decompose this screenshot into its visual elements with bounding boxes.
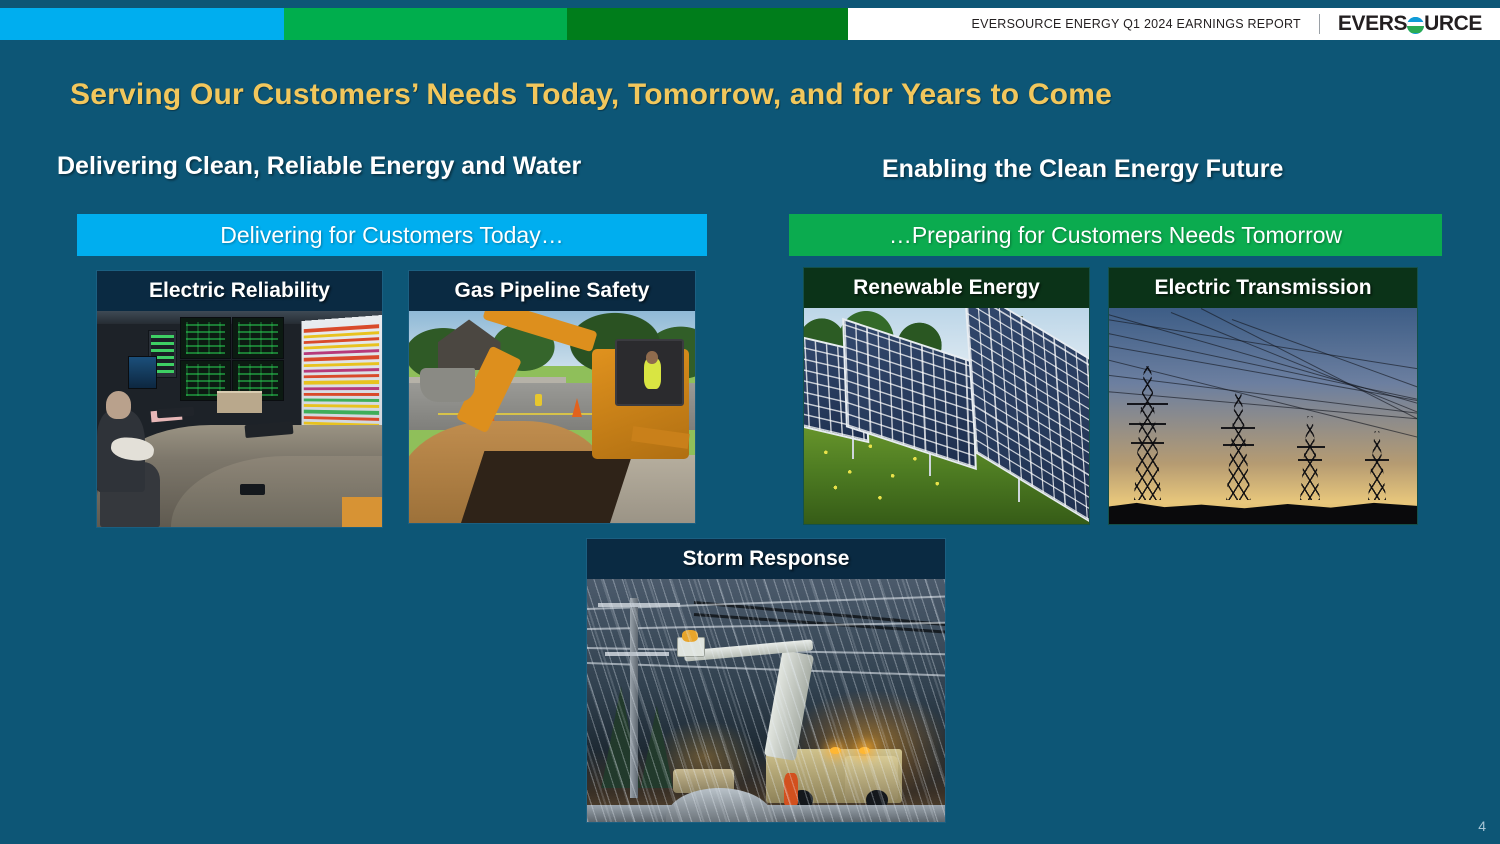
card-renewable-energy[interactable]: Renewable Energy <box>803 267 1090 525</box>
card-title-gas-pipeline-safety: Gas Pipeline Safety <box>409 271 695 311</box>
color-segment-green <box>284 8 567 40</box>
card-title-storm-response: Storm Response <box>587 539 945 579</box>
page-number: 4 <box>1478 818 1486 834</box>
header-divider <box>1319 14 1320 34</box>
card-title-renewable-energy: Renewable Energy <box>804 268 1089 308</box>
solar-panel-array-photo <box>804 308 1089 524</box>
backhoe-trench-excavation-photo <box>409 311 695 523</box>
color-segment-cyan <box>0 8 284 40</box>
card-title-electric-reliability: Electric Reliability <box>97 271 382 311</box>
transmission-towers-sunset-photo <box>1109 308 1417 524</box>
card-electric-reliability[interactable]: Electric Reliability <box>96 270 383 528</box>
card-title-electric-transmission: Electric Transmission <box>1109 268 1417 308</box>
column-heading-left: Delivering Clean, Reliable Energy and Wa… <box>57 152 581 181</box>
logo-text-right: URCE <box>1424 12 1482 36</box>
banner-delivering-today: Delivering for Customers Today… <box>77 214 707 256</box>
bucket-truck-snowstorm-photo <box>587 579 945 822</box>
card-electric-transmission[interactable]: Electric Transmission <box>1108 267 1418 525</box>
control-room-operator-photo <box>97 311 382 527</box>
card-gas-pipeline-safety[interactable]: Gas Pipeline Safety <box>408 270 696 524</box>
logo-text-left: EVERS <box>1338 12 1407 36</box>
eversource-globe-icon <box>1407 17 1424 34</box>
card-storm-response[interactable]: Storm Response <box>586 538 946 823</box>
report-title-label: EVERSOURCE ENERGY Q1 2024 EARNINGS REPOR… <box>972 17 1301 31</box>
eversource-logo: EVERS URCE <box>1338 12 1482 36</box>
banner-preparing-tomorrow: …Preparing for Customers Needs Tomorrow <box>789 214 1442 256</box>
header-brand-strip: EVERSOURCE ENERGY Q1 2024 EARNINGS REPOR… <box>848 8 1500 40</box>
color-segment-dark-green <box>567 8 848 40</box>
column-heading-right: Enabling the Clean Energy Future <box>882 155 1283 184</box>
slide-title: Serving Our Customers’ Needs Today, Tomo… <box>70 78 1112 112</box>
top-color-bar: EVERSOURCE ENERGY Q1 2024 EARNINGS REPOR… <box>0 8 1500 40</box>
